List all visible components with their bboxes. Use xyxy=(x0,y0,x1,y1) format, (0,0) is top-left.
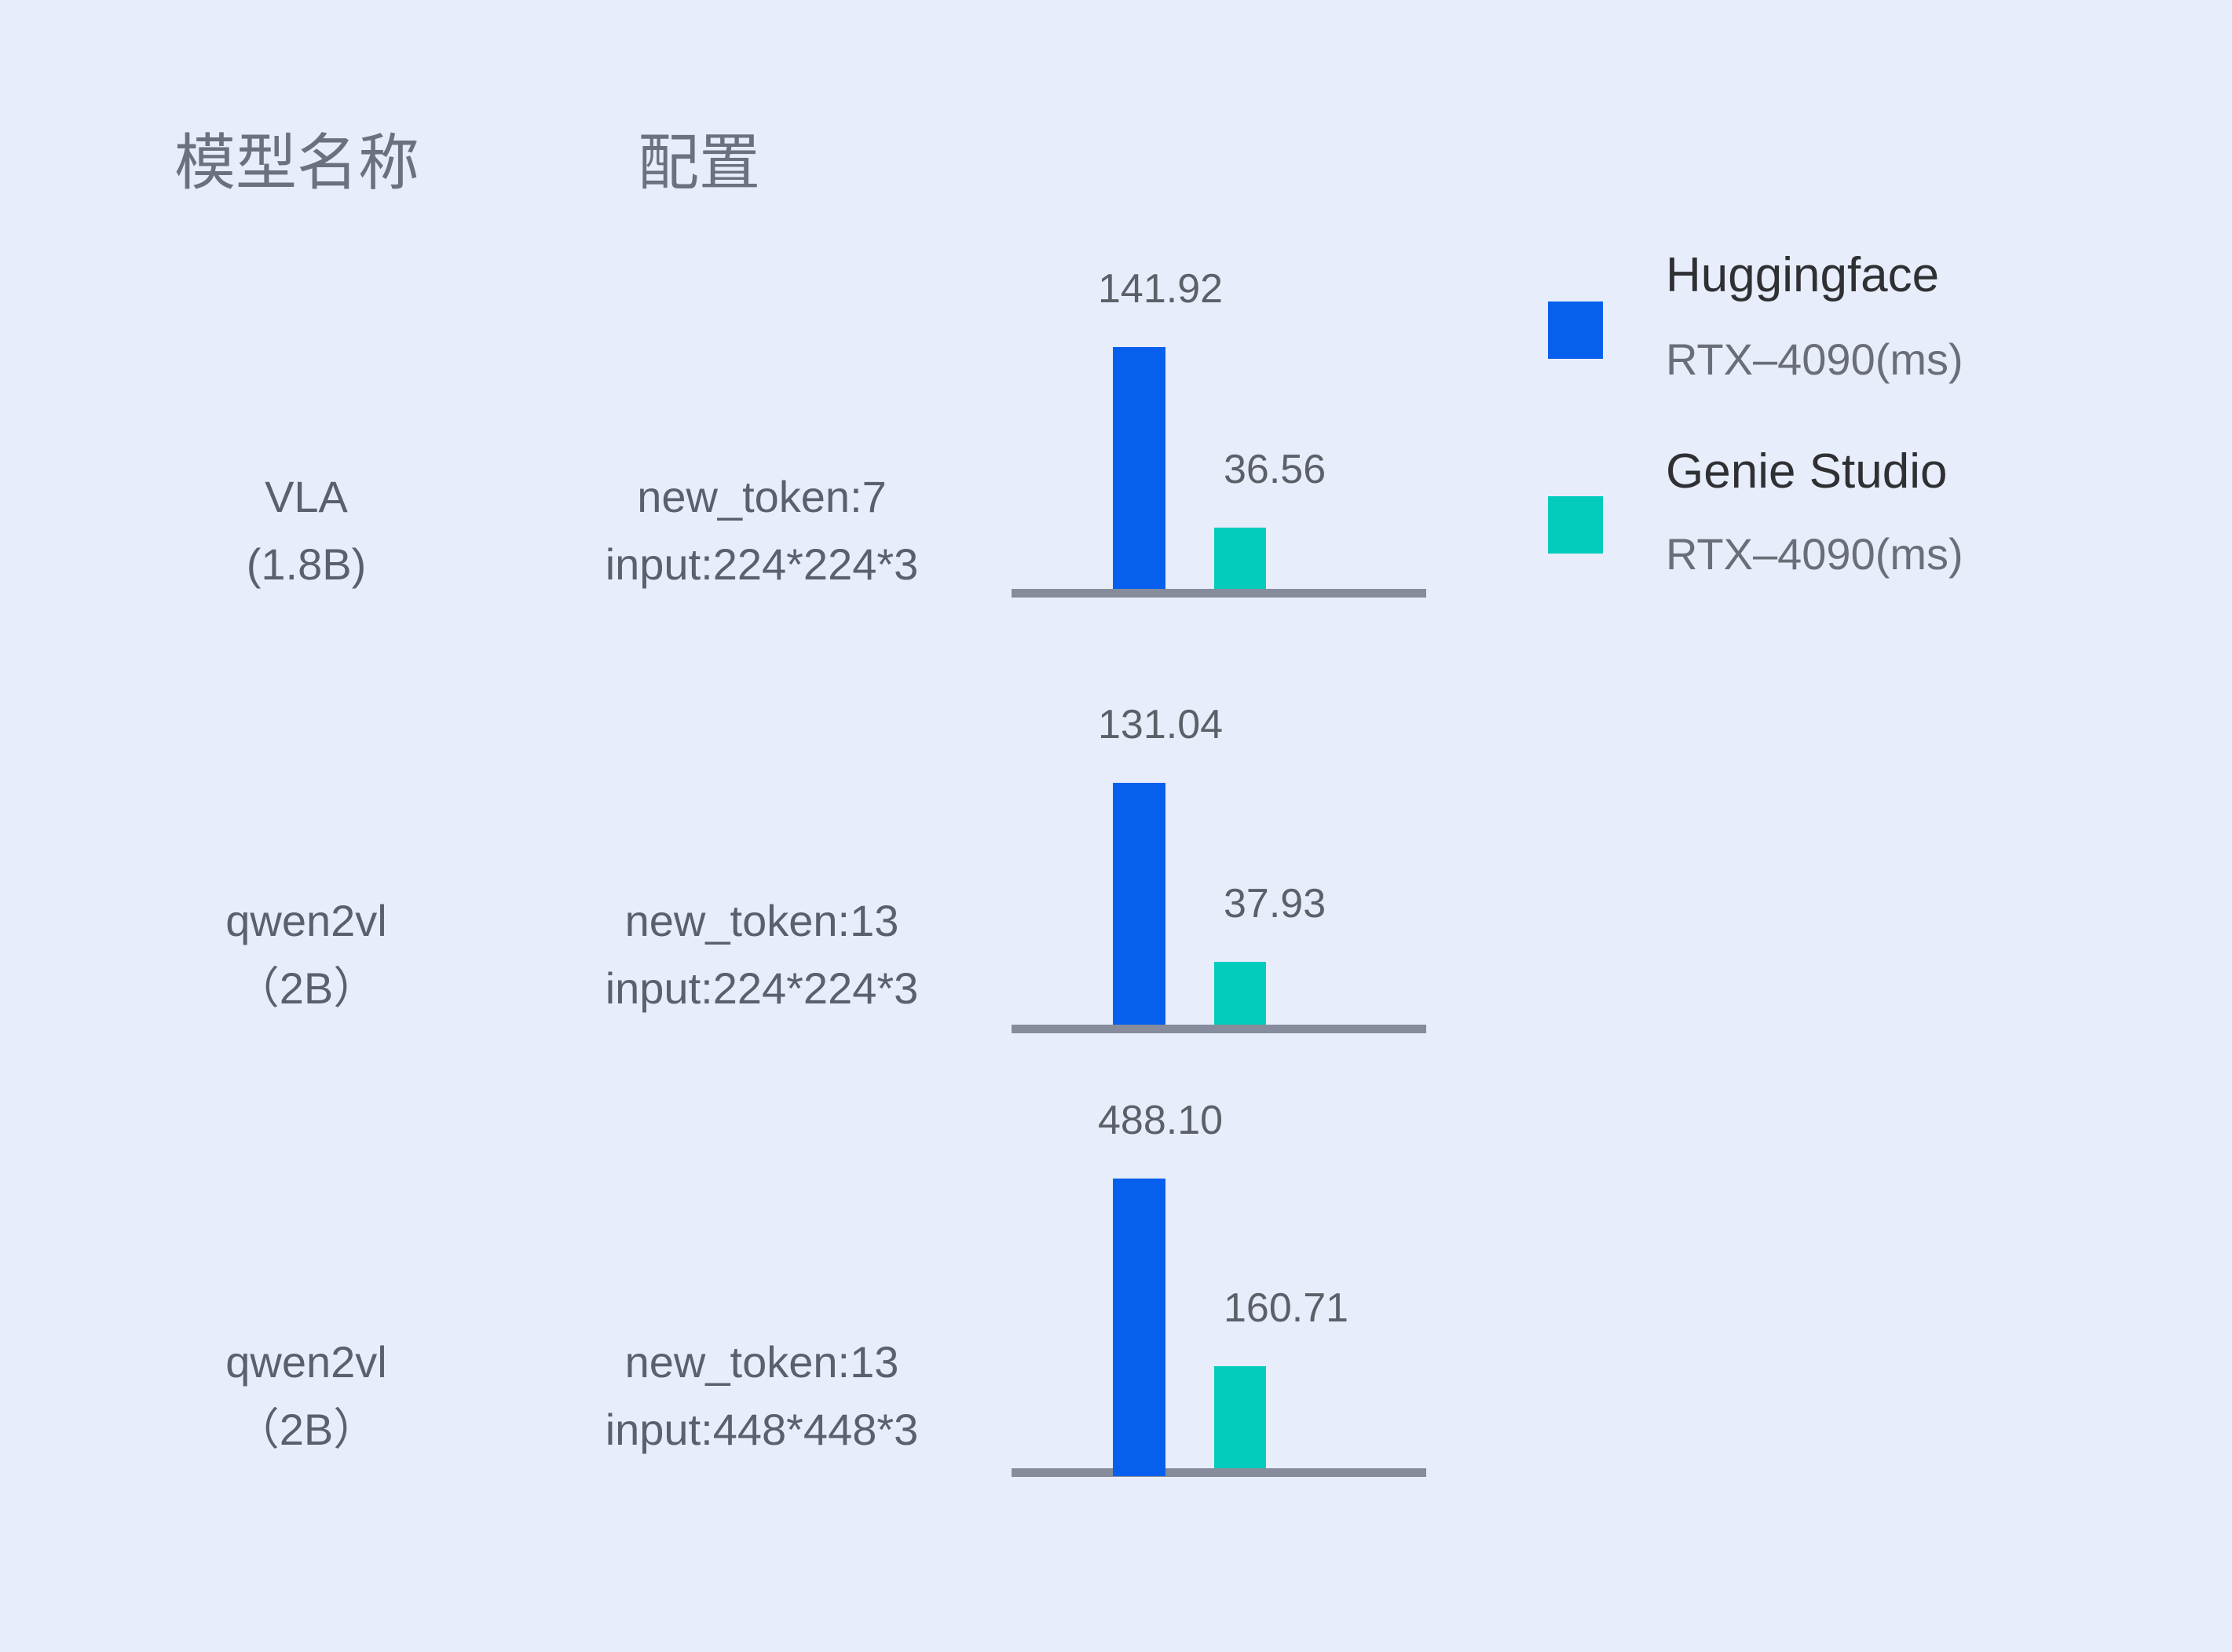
baseline xyxy=(1012,589,1426,598)
legend-swatch-genie-studio-icon xyxy=(1548,496,1603,554)
baseline xyxy=(1012,1025,1426,1033)
row-model-name-line2: （2B） xyxy=(141,955,471,1022)
bar-value-genie-studio: 36.56 xyxy=(1224,449,1326,490)
bar-huggingface[interactable] xyxy=(1113,347,1165,589)
bar-value-genie-studio: 160.71 xyxy=(1224,1288,1348,1329)
bar-value-huggingface: 141.92 xyxy=(1098,269,1223,309)
bar-group-row-1: 141.92 36.56 xyxy=(1012,347,1426,598)
baseline xyxy=(1012,1468,1426,1477)
bar-huggingface[interactable] xyxy=(1113,783,1165,1025)
legend-item-huggingface[interactable]: Huggingface RTX–4090(ms) xyxy=(1548,251,2145,448)
row-model-name-line1: VLA xyxy=(141,463,471,531)
row-config-line1: new_token:13 xyxy=(518,1329,1005,1396)
bar-genie-studio[interactable] xyxy=(1214,1366,1266,1468)
row-config: new_token:13 input:448*448*3 xyxy=(518,1329,1005,1464)
column-header-model-name: 模型名称 xyxy=(174,132,419,193)
row-model-name-line1: qwen2vl xyxy=(141,887,471,955)
row-config: new_token:13 input:224*224*3 xyxy=(518,887,1005,1022)
bar-group-row-2: 131.04 37.93 xyxy=(1012,783,1426,1033)
row-config-line1: new_token:13 xyxy=(518,887,1005,955)
row-model-name-line1: qwen2vl xyxy=(141,1329,471,1396)
bar-value-genie-studio: 37.93 xyxy=(1224,883,1326,924)
row-model-name: qwen2vl （2B） xyxy=(141,887,471,1022)
legend-title-huggingface: Huggingface xyxy=(1666,251,1939,300)
legend-item-genie-studio[interactable]: Genie Studio RTX–4090(ms) xyxy=(1548,448,2145,644)
column-header-config: 配置 xyxy=(638,132,760,193)
row-config-line1: new_token:7 xyxy=(518,463,1005,531)
legend-subtitle-huggingface: RTX–4090(ms) xyxy=(1666,338,1963,382)
row-config: new_token:7 input:224*224*3 xyxy=(518,463,1005,598)
row-config-line2: input:224*224*3 xyxy=(518,955,1005,1022)
bar-value-huggingface: 488.10 xyxy=(1098,1100,1223,1141)
row-config-line2: input:224*224*3 xyxy=(518,531,1005,598)
row-model-name: qwen2vl （2B） xyxy=(141,1329,471,1464)
legend-swatch-huggingface-icon xyxy=(1548,302,1603,359)
bar-huggingface[interactable] xyxy=(1113,1179,1165,1476)
bar-genie-studio[interactable] xyxy=(1214,962,1266,1025)
legend: Huggingface RTX–4090(ms) Genie Studio RT… xyxy=(1548,251,2145,644)
row-model-name-line2: （2B） xyxy=(141,1396,471,1464)
chart-canvas: 模型名称 配置 VLA (1.8B) new_token:7 input:224… xyxy=(0,0,2232,1652)
legend-subtitle-genie-studio: RTX–4090(ms) xyxy=(1666,532,1963,576)
row-model-name-line2: (1.8B) xyxy=(141,531,471,598)
bar-value-huggingface: 131.04 xyxy=(1098,704,1223,745)
bar-genie-studio[interactable] xyxy=(1214,528,1266,589)
row-model-name: VLA (1.8B) xyxy=(141,463,471,598)
bar-group-row-3: 488.10 160.71 xyxy=(1012,1179,1426,1477)
legend-title-genie-studio: Genie Studio xyxy=(1666,448,1947,496)
row-config-line2: input:448*448*3 xyxy=(518,1396,1005,1464)
